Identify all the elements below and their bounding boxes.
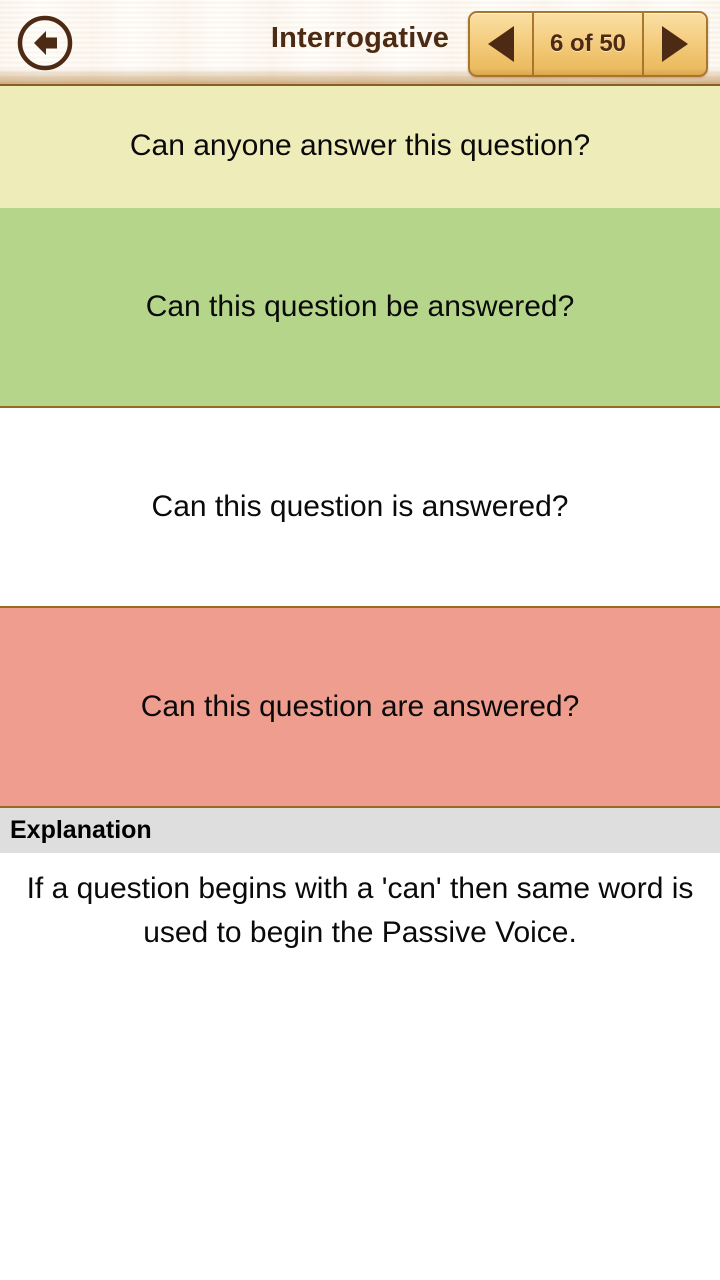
page-indicator: 6 of 50 <box>532 13 642 75</box>
option-correct[interactable]: Can this question be answered? <box>0 208 720 408</box>
explanation-heading: Explanation <box>0 808 720 853</box>
app-header: Interrogative 6 of 50 <box>0 0 720 86</box>
pager: 6 of 50 <box>468 11 708 77</box>
question-text: Can anyone answer this question? <box>0 86 720 208</box>
next-page-button[interactable] <box>642 13 706 75</box>
option-neutral[interactable]: Can this question is answered? <box>0 408 720 608</box>
triangle-right-icon <box>662 26 688 62</box>
triangle-left-icon <box>488 26 514 62</box>
option-wrong[interactable]: Can this question are answered? <box>0 608 720 808</box>
prev-page-button[interactable] <box>470 13 532 75</box>
explanation-body: If a question begins with a 'can' then s… <box>0 853 720 956</box>
